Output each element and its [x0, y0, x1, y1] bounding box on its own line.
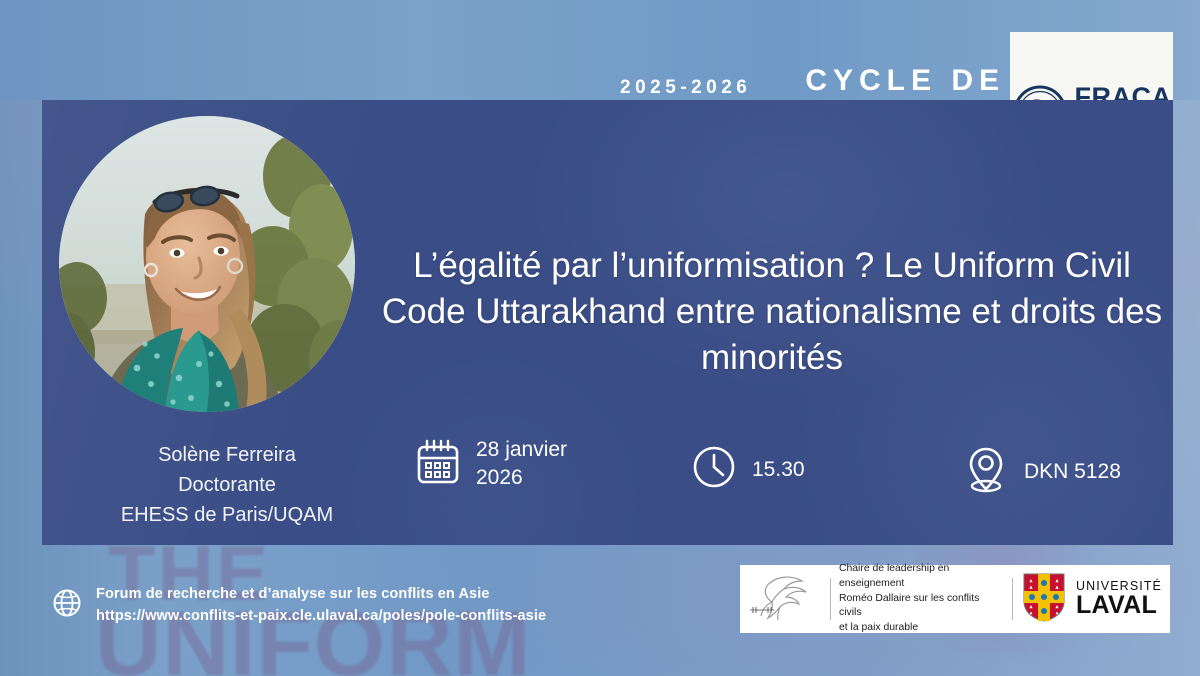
- chair-line-2: Roméo Dallaire sur les conflits civils: [839, 592, 1004, 622]
- chair-line-1: Chaire de leadership en enseignement: [839, 562, 1004, 592]
- dove-icon: [748, 569, 822, 630]
- event-location: DKN 5128: [964, 445, 1121, 498]
- event-time-label: 15.30: [752, 456, 805, 484]
- divider-2: [1012, 578, 1013, 620]
- speaker-affiliation: EHESS de Paris/UQAM: [62, 500, 392, 530]
- speaker-role: Doctorante: [62, 470, 392, 500]
- event-details: 28 janvier 2026 15.30: [372, 418, 1162, 508]
- calendar-icon: [416, 439, 460, 490]
- footer-contact: Forum de recherche et d’analyse sur les …: [52, 583, 546, 627]
- speaker-photo: [59, 116, 355, 412]
- divider: [830, 578, 831, 620]
- footer-organization: Forum de recherche et d’analyse sur les …: [96, 583, 546, 605]
- ulaval-crest-icon: [1021, 571, 1067, 628]
- talk-title: L’égalité par l’uniformisation ? Le Unif…: [372, 243, 1172, 381]
- ulaval-logo: UNIVERSITÉ LAVAL: [1021, 571, 1162, 628]
- event-poster: Equality through mity THE UNIFORM 2025-2…: [0, 0, 1200, 676]
- speaker-info: Solène Ferreira Doctorante EHESS de Pari…: [62, 440, 392, 530]
- partner-logos: Chaire de leadership en enseignement Rom…: [740, 565, 1170, 633]
- event-date: 28 janvier 2026: [416, 436, 567, 492]
- globe-icon: [52, 588, 82, 623]
- main-panel: L’égalité par l’uniformisation ? Le Unif…: [42, 100, 1173, 545]
- ulaval-line-2: LAVAL: [1076, 593, 1162, 618]
- season-label: 2025-2026: [620, 77, 751, 99]
- event-time: 15.30: [692, 445, 805, 494]
- series-title-line1: CYCLE DE: [760, 58, 1005, 104]
- clock-icon: [692, 445, 736, 494]
- speaker-name: Solène Ferreira: [62, 440, 392, 470]
- location-pin-icon: [964, 445, 1008, 498]
- footer-url[interactable]: https://www.conflits-et-paix.cle.ulaval.…: [96, 605, 546, 627]
- event-date-label: 28 janvier 2026: [476, 436, 567, 492]
- event-location-label: DKN 5128: [1024, 458, 1121, 486]
- chair-line-3: et la paix durable: [839, 621, 1004, 636]
